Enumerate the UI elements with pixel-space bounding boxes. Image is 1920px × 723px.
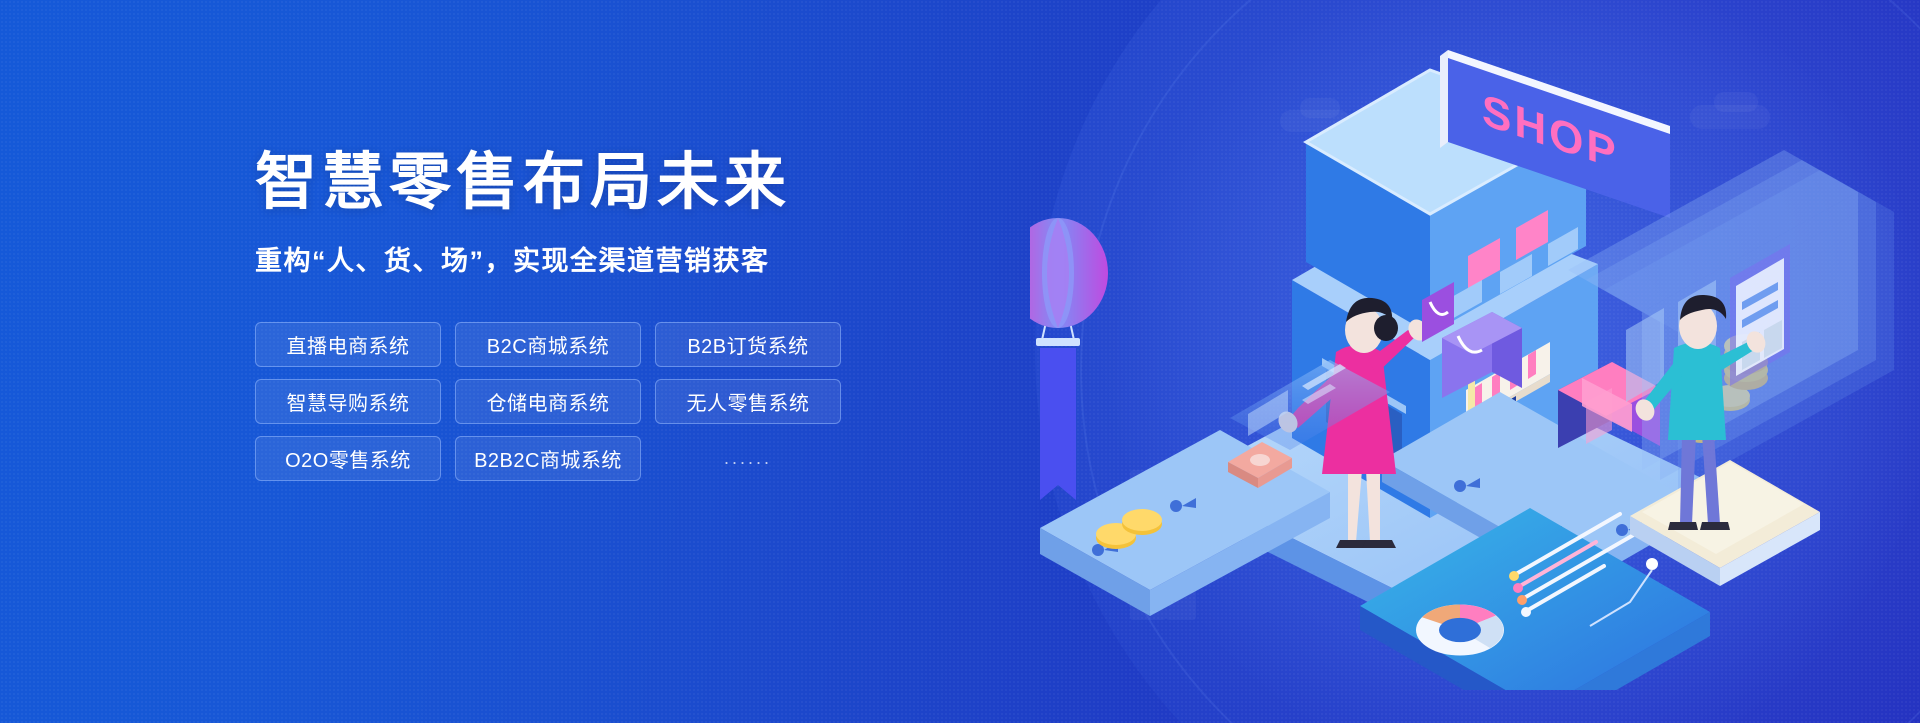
tag-more-ellipsis: ......	[655, 436, 841, 481]
tag-row: 直播电商系统 B2C商城系统 B2B订货系统	[255, 322, 895, 367]
banner-content: 智慧零售布局未来 重构“人、货、场”，实现全渠道营销获客 直播电商系统 B2C商…	[255, 150, 895, 481]
tag-smart-guide[interactable]: 智慧导购系统	[255, 379, 441, 424]
system-tag-grid: 直播电商系统 B2C商城系统 B2B订货系统 智慧导购系统 仓储电商系统 无人零…	[255, 322, 895, 481]
hot-air-balloon	[1030, 218, 1108, 500]
tag-b2b2c-mall[interactable]: B2B2C商城系统	[455, 436, 641, 481]
tag-o2o-retail[interactable]: O2O零售系统	[255, 436, 441, 481]
tag-row: O2O零售系统 B2B2C商城系统 ......	[255, 436, 895, 481]
tag-b2c-mall[interactable]: B2C商城系统	[455, 322, 641, 367]
donut-chart	[1416, 604, 1504, 655]
page-title: 智慧零售布局未来	[255, 150, 895, 217]
promo-banner: SHOP	[0, 0, 1920, 723]
tag-warehouse-ecommerce[interactable]: 仓储电商系统	[455, 379, 641, 424]
page-subtitle: 重构“人、货、场”，实现全渠道营销获客	[255, 239, 895, 278]
tag-unmanned-retail[interactable]: 无人零售系统	[655, 379, 841, 424]
retail-isometric-illustration: SHOP	[1030, 30, 1920, 690]
tag-row: 智慧导购系统 仓储电商系统 无人零售系统	[255, 379, 895, 424]
tag-b2b-ordering[interactable]: B2B订货系统	[655, 322, 841, 367]
tag-live-ecommerce[interactable]: 直播电商系统	[255, 322, 441, 367]
